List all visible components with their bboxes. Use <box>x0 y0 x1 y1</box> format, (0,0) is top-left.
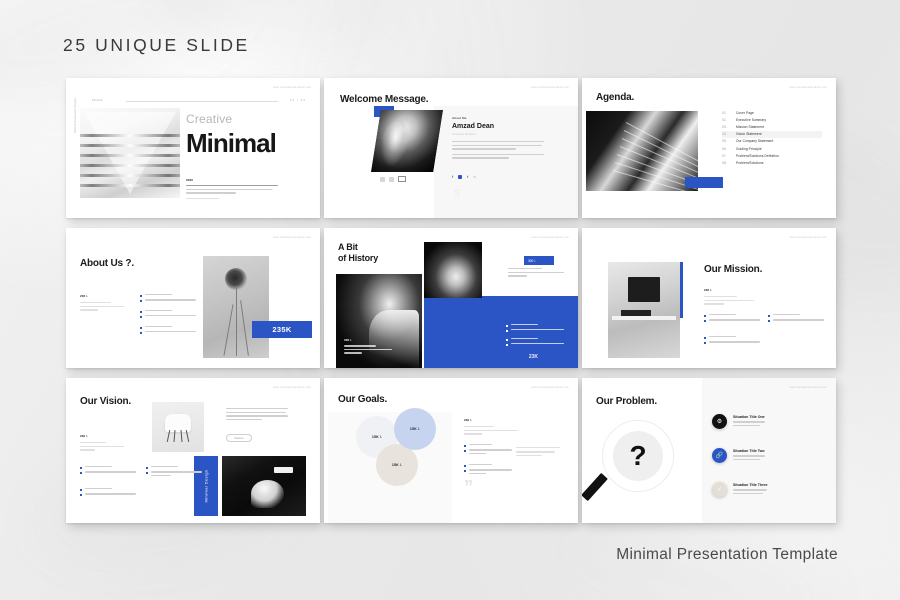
vision-explore-button[interactable]: Explore <box>226 434 252 442</box>
vision-vertical-label: Minimal Design <box>204 470 209 503</box>
cover-side-label: Minimal Presentation Template <box>74 98 77 133</box>
bullet-marker <box>140 300 142 302</box>
welcome-signature: S <box>454 188 460 198</box>
bullet-marker <box>768 320 770 322</box>
bullet-marker <box>140 311 142 313</box>
cover-slide-counter: 01 / 25 <box>290 98 306 102</box>
watermark: www.minimalpresentation.com <box>531 236 569 239</box>
cover-meta: 2020 <box>186 178 282 201</box>
photo-shape <box>168 430 188 442</box>
photo-shape <box>612 316 675 320</box>
history-badge: 300 /. <box>524 256 554 265</box>
mission-bullets-c <box>704 336 760 346</box>
bullet-marker <box>506 344 508 346</box>
about-us-badge: 235K <box>252 321 312 338</box>
history-stat-blue: 23K <box>529 354 538 360</box>
watermark: www.minimalpresentation.com <box>273 386 311 389</box>
watermark: www.minimalpresentation.com <box>531 386 569 389</box>
mission-body: 230 /. <box>704 288 754 307</box>
welcome-portrait-photo <box>371 110 443 172</box>
vision-intro-text <box>226 408 288 422</box>
agenda-title: Agenda. <box>596 92 634 103</box>
photo-shape <box>628 277 660 302</box>
goals-bullets-b <box>464 464 512 478</box>
watermark: www.minimalpresentation.com <box>273 236 311 239</box>
cover-heading-group: Creative Minimal <box>186 112 276 159</box>
photo-shape <box>80 154 180 157</box>
twitter-icon[interactable]: t <box>467 174 468 179</box>
slide-thumbnail-history[interactable]: www.minimalpresentation.com A Bit of His… <box>324 228 578 368</box>
bullet-marker <box>464 450 466 452</box>
history-left-text: 350 /. <box>344 338 392 356</box>
agenda-item-number: 08. <box>722 161 731 165</box>
agenda-item-number: 05. <box>722 139 731 143</box>
agenda-item[interactable]: 08. Problem/Solutions <box>722 159 822 166</box>
bullet-marker <box>146 467 148 469</box>
history-right-text <box>508 268 564 279</box>
bullet-marker <box>506 339 508 341</box>
agenda-item-label: Mission Statement <box>736 125 764 129</box>
welcome-role: Creative Director <box>452 132 544 136</box>
bullet-marker <box>140 332 142 334</box>
bullet-marker <box>464 465 466 467</box>
agenda-item-label: Guiding Principle <box>736 147 762 151</box>
about-us-flower-photo <box>203 256 269 358</box>
welcome-social-links[interactable]: f t in <box>452 174 476 179</box>
bullet-marker <box>704 320 706 322</box>
slide-grid: www.minimalpresentation.com Minimal 01 /… <box>66 78 838 523</box>
watermark: www.minimalpresentation.com <box>273 86 311 89</box>
slide-thumbnail-goals[interactable]: www.minimalpresentation.com Our Goals. 1… <box>324 378 578 523</box>
mail-icon <box>398 176 406 182</box>
agenda-item-label: Problem/Solutions <box>736 161 764 165</box>
problem-title: Our Problem. <box>596 396 657 407</box>
bullet-marker <box>704 342 706 344</box>
photo-shape <box>80 164 180 167</box>
vision-chair-photo <box>152 402 204 452</box>
settings-icon: ⚙ <box>712 414 727 429</box>
agenda-item-label: Executive Summary <box>736 118 766 122</box>
vision-title: Our Vision. <box>80 396 131 407</box>
history-badge-label: 300 /. <box>528 259 536 263</box>
mission-title: Our Mission. <box>704 264 762 275</box>
slide-thumbnail-welcome[interactable]: www.minimalpresentation.com Welcome Mess… <box>324 78 578 218</box>
situation-title: Situation Title Two <box>733 449 765 453</box>
linkedin-icon[interactable]: in <box>473 174 476 179</box>
page-footer-caption: Minimal Presentation Template <box>616 546 838 564</box>
photo-shape <box>80 184 180 187</box>
vision-bullets-b <box>146 466 202 480</box>
agenda-item[interactable]: 03. Mission Statement <box>722 123 822 130</box>
slide-thumbnail-about-us[interactable]: www.minimalpresentation.com About Us ?. … <box>66 228 320 368</box>
situation-item[interactable]: 🔗 Situation Title Two <box>712 448 820 463</box>
slide-thumbnail-agenda[interactable]: www.minimalpresentation.com Agenda. 01. … <box>582 78 836 218</box>
photo-shape <box>274 467 292 473</box>
agenda-building-photo <box>586 111 698 191</box>
agenda-item-label: Our Company Statement <box>736 139 773 143</box>
magnifier-handle <box>582 473 608 501</box>
mission-bullets-a <box>704 314 760 324</box>
bullet-marker <box>80 472 82 474</box>
situation-title: Situation Title Three <box>733 483 767 487</box>
goals-title: Our Goals. <box>338 394 387 405</box>
dot-icon <box>389 177 394 182</box>
watermark: www.minimalpresentation.com <box>531 86 569 89</box>
bullet-marker <box>704 315 706 317</box>
bullet-marker <box>80 494 82 496</box>
about-us-stat: 230 /. <box>80 294 124 298</box>
about-us-title: About Us ?. <box>80 258 134 269</box>
situation-item[interactable]: ⚙ Situation Title One <box>712 414 820 429</box>
link-icon: 🔗 <box>712 448 727 463</box>
cover-topbar-label: Minimal <box>92 98 102 102</box>
history-portrait-photo-small <box>424 242 482 298</box>
bullet-marker <box>140 316 142 318</box>
magnifier-icon: ? <box>602 420 674 492</box>
dot-icon <box>380 177 385 182</box>
watermark: www.minimalpresentation.com <box>789 236 827 239</box>
history-stat-left: 350 /. <box>344 338 392 342</box>
photo-shape <box>80 134 180 137</box>
history-title-line1: A Bit <box>338 242 358 252</box>
agenda-list: 01. Cover Page 02. Executive Summary 03.… <box>722 109 822 167</box>
vision-bullets-c <box>80 488 136 498</box>
goals-bullets-a2 <box>516 444 560 459</box>
bullet-marker <box>768 315 770 317</box>
bullet-marker <box>704 337 706 339</box>
photo-shape <box>80 144 180 147</box>
slide-thumbnail-problem[interactable]: www.minimalpresentation.com Our Problem.… <box>582 378 836 523</box>
vision-blue-panel: Minimal Design <box>194 456 218 516</box>
watermark: www.minimalpresentation.com <box>789 86 827 89</box>
bullet-marker <box>506 325 508 327</box>
vision-interior-photo <box>222 456 306 516</box>
goals-circle-3: 15K /. <box>376 444 418 486</box>
cover-architecture-photo <box>80 108 180 198</box>
agenda-item-label: Cover Page <box>736 111 754 115</box>
about-us-stat-block: 230 /. <box>80 294 124 313</box>
vision-bullets-a <box>80 466 136 476</box>
agenda-item[interactable]: 06. Guiding Principle <box>722 145 822 152</box>
history-title-line2: of History <box>338 253 378 263</box>
situation-title: Situation Title One <box>733 415 765 419</box>
check-icon: ✓ <box>712 482 727 497</box>
bullet-marker <box>506 330 508 332</box>
bullet-marker <box>140 295 142 297</box>
agenda-item-label: Vision Statement <box>736 132 762 136</box>
vision-stat: 230 /. <box>80 434 124 438</box>
agenda-item[interactable]: 01. Cover Page <box>722 109 822 116</box>
slide-thumbnail-vision[interactable]: www.minimalpresentation.com Our Vision. … <box>66 378 320 523</box>
mission-bullets-b <box>768 314 824 324</box>
mission-stat: 230 /. <box>704 288 754 292</box>
bullet-marker <box>80 467 82 469</box>
question-mark-glyph: ? <box>613 431 663 481</box>
watermark: www.minimalpresentation.com <box>789 386 827 389</box>
divider <box>126 101 278 102</box>
slide-thumbnail-mission[interactable]: www.minimalpresentation.com Our Mission.… <box>582 228 836 368</box>
welcome-bio: About Me Amzad Dean Creative Director <box>452 116 544 161</box>
cover-topbar: Minimal 01 / 25 <box>92 98 306 104</box>
agenda-item-number: 04. <box>722 132 731 136</box>
photo-shape <box>84 112 176 194</box>
welcome-photo-icons <box>380 176 406 182</box>
cover-eyebrow: Creative <box>186 112 276 126</box>
agenda-blue-accent <box>685 177 723 188</box>
goals-body: 230 /. <box>464 418 518 437</box>
slide-thumbnail-cover[interactable]: www.minimalpresentation.com Minimal 01 /… <box>66 78 320 218</box>
agenda-item-label: Problem/Solutions Definition <box>736 154 779 158</box>
mission-workspace-photo <box>608 262 680 358</box>
mission-blue-accent <box>680 262 683 318</box>
goals-quote-icon: ” <box>464 482 473 493</box>
welcome-title: Welcome Message. <box>340 94 428 105</box>
history-bullets <box>506 324 564 348</box>
bullet-marker <box>140 327 142 329</box>
about-us-bullets <box>140 294 196 336</box>
cover-year: 2020 <box>186 178 282 182</box>
agenda-item-number: 03. <box>722 125 731 129</box>
agenda-item-active[interactable]: 04. Vision Statement <box>722 131 822 138</box>
agenda-item-number: 07. <box>722 154 731 158</box>
bullet-marker <box>464 445 466 447</box>
bullet-marker <box>464 470 466 472</box>
goals-bullets-a <box>464 444 512 458</box>
agenda-item[interactable]: 05. Our Company Statement <box>722 138 822 145</box>
facebook-icon[interactable]: f <box>452 174 453 179</box>
welcome-kicker: About Me <box>452 116 544 120</box>
bullet-marker <box>146 472 148 474</box>
instagram-icon[interactable] <box>458 175 462 179</box>
photo-shape <box>80 174 180 177</box>
goals-stat: 230 /. <box>464 418 518 422</box>
vision-stat-block: 230 /. <box>80 434 124 453</box>
agenda-item[interactable]: 02. Executive Summary <box>722 116 822 123</box>
agenda-item[interactable]: 07. Problem/Solutions Definition <box>722 152 822 159</box>
agenda-item-number: 06. <box>722 147 731 151</box>
goals-circle-2: 15K /. <box>394 408 436 450</box>
cover-title: Minimal <box>186 128 276 159</box>
agenda-item-number: 02. <box>722 118 731 122</box>
agenda-item-number: 01. <box>722 111 731 115</box>
welcome-name: Amzad Dean <box>452 123 544 130</box>
photo-shape <box>251 480 285 508</box>
page-title: 25 UNIQUE SLIDE <box>63 35 250 56</box>
situation-item[interactable]: ✓ Situation Title Three <box>712 482 820 497</box>
bullet-marker <box>80 489 82 491</box>
